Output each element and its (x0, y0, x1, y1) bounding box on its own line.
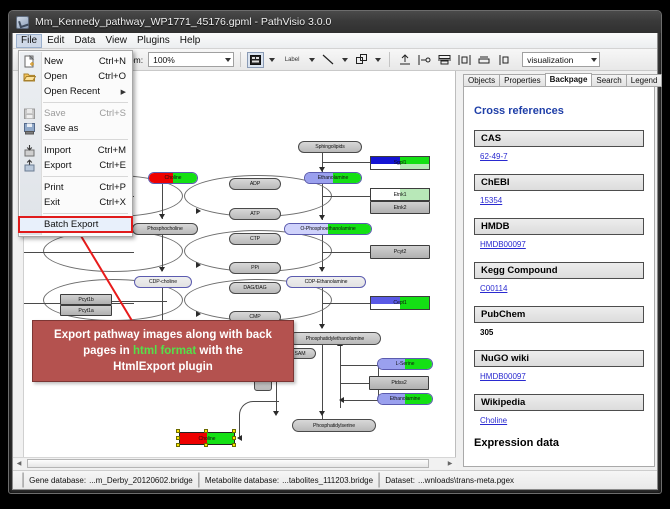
menu-separator-2 (43, 139, 128, 140)
pathvisio-app-icon (16, 16, 29, 29)
zoom-combo[interactable]: 100% (148, 52, 234, 67)
menu-item-export[interactable]: Export Ctrl+E (19, 158, 132, 173)
callout-line-2c: with the (196, 345, 243, 357)
annotation-callout: Export pathway images along with back pa… (32, 320, 294, 382)
same-width-icon[interactable] (476, 52, 493, 68)
align-top-icon[interactable] (396, 52, 413, 68)
menu-item-open[interactable]: Open Ctrl+O (19, 69, 132, 84)
xref-source-nugo-wiki: NuGO wiki (474, 350, 644, 367)
new-document-icon (23, 55, 36, 68)
label-tool[interactable]: Label (280, 52, 304, 68)
menu-bar: File Edit Data View Plugins Help (13, 33, 657, 49)
menu-data[interactable]: Data (69, 34, 100, 48)
line-dropdown-icon[interactable] (342, 58, 348, 62)
menu-item-batch-export-label: Batch Export (44, 219, 98, 230)
menu-item-export-accel: Ctrl+E (99, 160, 126, 171)
application-window: Mm_Kennedy_pathway_WP1771_45176.gpml - P… (8, 10, 662, 494)
menu-item-save-as-label: Save as (44, 123, 78, 134)
menu-item-save-accel: Ctrl+S (99, 108, 126, 119)
align-left-icon[interactable] (416, 52, 433, 68)
xref-source-hmdb: HMDB (474, 218, 644, 235)
menu-item-save[interactable]: Save Ctrl+S (19, 106, 132, 121)
side-panel: Objects Properties Backpage Search Legen… (457, 71, 657, 469)
menu-item-import-label: Import (44, 145, 71, 156)
callout-line-1: Export pathway images along with back (54, 327, 272, 343)
xref-source-pubchem: PubChem (474, 306, 644, 323)
menu-item-save-label: Save (44, 108, 66, 119)
menu-item-exit-label: Exit (44, 197, 60, 208)
toolbar-separator-2 (389, 52, 390, 67)
shape-tool-icon[interactable] (353, 52, 370, 68)
menu-separator-1 (43, 102, 128, 103)
visualization-value: visualization (527, 55, 573, 65)
xref-value-nugo-wiki[interactable]: HMDB00097 (480, 372, 644, 381)
menu-separator-3 (43, 176, 128, 177)
toolbar-separator (240, 52, 241, 67)
menu-item-batch-export[interactable]: Batch Export (19, 217, 132, 232)
xref-value-kegg-compound[interactable]: C00114 (480, 284, 644, 293)
menu-separator-4 (43, 213, 128, 214)
title-bar: Mm_Kennedy_pathway_WP1771_45176.gpml - P… (9, 11, 661, 33)
line-tool-icon[interactable] (320, 52, 337, 68)
menu-item-save-as[interactable]: Save as (19, 121, 132, 136)
xref-link-wikipedia[interactable]: Choline (480, 416, 507, 425)
menu-item-new-accel: Ctrl+N (99, 56, 126, 67)
backpage-content: Cross references CAS 62-49-7 ChEBI 15354… (474, 87, 644, 466)
export-icon (23, 159, 36, 172)
menu-item-open-recent-label: Open Recent (44, 86, 100, 97)
chevron-down-icon-2 (591, 58, 597, 62)
menu-item-import-accel: Ctrl+M (98, 145, 126, 156)
tab-backpage[interactable]: Backpage (545, 73, 593, 87)
client-area: File Edit Data View Plugins Help Zoom: 1… (12, 33, 658, 490)
menu-plugins[interactable]: Plugins (132, 34, 175, 48)
open-folder-icon (23, 70, 36, 83)
cross-references-heading: Cross references (474, 105, 644, 117)
menu-item-open-label: Open (44, 71, 67, 82)
panel-tabstrip: Objects Properties Backpage Search Legen… (463, 73, 655, 87)
menu-item-import[interactable]: Import Ctrl+M (19, 143, 132, 158)
save-as-icon (23, 122, 36, 135)
callout-line-2: pages in html format with the (83, 343, 243, 359)
status-divider-1: | (197, 471, 201, 489)
status-dataset-label: Dataset: (385, 476, 415, 485)
menu-item-open-recent[interactable]: Open Recent ▶ (19, 84, 132, 99)
datanode-dropdown-icon[interactable] (269, 58, 275, 62)
menu-item-exit-accel: Ctrl+X (99, 197, 126, 208)
visualization-combo[interactable]: visualization (522, 52, 600, 67)
xref-value-hmdb[interactable]: HMDB00097 (480, 240, 644, 249)
save-disk-icon (23, 107, 36, 120)
menu-item-exit[interactable]: Exit Ctrl+X (19, 195, 132, 210)
callout-line-2a: pages in (83, 345, 133, 357)
label-dropdown-icon[interactable] (309, 58, 315, 62)
status-metabolite-db-value: ...tabolites_111203.bridge (282, 476, 373, 485)
menu-view[interactable]: View (100, 34, 132, 48)
menu-item-open-accel: Ctrl+O (98, 71, 126, 82)
import-icon (23, 144, 36, 157)
menu-edit[interactable]: Edit (42, 34, 69, 48)
callout-line-3: HtmlExport plugin (113, 359, 213, 375)
menu-item-export-label: Export (44, 160, 71, 171)
datanode-tool-icon[interactable] (247, 52, 264, 68)
expression-data-heading: Expression data (474, 437, 644, 449)
status-bar: | Gene database: ...m_Derby_20120602.bri… (13, 470, 657, 489)
chevron-down-icon (225, 58, 231, 62)
xref-link-kegg-compound[interactable]: C00114 (480, 284, 507, 293)
xref-value-cas[interactable]: 62-49-7 (480, 152, 644, 161)
screenshot-root: Mm_Kennedy_pathway_WP1771_45176.gpml - P… (0, 0, 670, 509)
xref-link-cas[interactable]: 62-49-7 (480, 152, 508, 161)
xref-value-chebi[interactable]: 15354 (480, 196, 644, 205)
xref-link-hmdb[interactable]: HMDB00097 (480, 240, 526, 249)
submenu-arrow-icon: ▶ (121, 88, 126, 96)
same-height-icon[interactable] (496, 52, 513, 68)
status-divider-0: | (21, 471, 25, 489)
backpage-panel[interactable]: Cross references CAS 62-49-7 ChEBI 15354… (463, 86, 655, 467)
menu-file[interactable]: File (16, 34, 42, 48)
xref-source-wikipedia: Wikipedia (474, 394, 644, 411)
align-middle-icon[interactable] (436, 52, 453, 68)
status-gene-db-label: Gene database: (29, 476, 86, 485)
xref-value-wikipedia[interactable]: Choline (480, 416, 644, 425)
shape-dropdown-icon[interactable] (375, 58, 381, 62)
callout-html-format-highlight: html format (133, 345, 196, 357)
status-dataset-value: ...wnloads\trans-meta.pgex (418, 476, 514, 485)
status-divider-2: | (377, 471, 381, 489)
menu-item-new[interactable]: New Ctrl+N (19, 54, 132, 69)
menu-item-print-accel: Ctrl+P (99, 182, 126, 193)
distribute-horizontal-icon[interactable] (456, 52, 473, 68)
menu-item-new-label: New (44, 56, 63, 67)
menu-item-print[interactable]: Print Ctrl+P (19, 180, 132, 195)
xref-source-kegg-compound: Kegg Compound (474, 262, 644, 279)
xref-link-nugo-wiki[interactable]: HMDB00097 (480, 372, 526, 381)
file-menu-dropdown[interactable]: New Ctrl+N Open Ctrl+O Open Recent ▶ (18, 50, 133, 237)
status-metabolite-db-label: Metabolite database: (205, 476, 279, 485)
xref-link-chebi[interactable]: 15354 (480, 196, 502, 205)
menu-help[interactable]: Help (175, 34, 206, 48)
menu-item-print-label: Print (44, 182, 64, 193)
status-gene-db-value: ...m_Derby_20120602.bridge (89, 476, 193, 485)
xref-value-pubchem: 305 (480, 328, 644, 337)
window-title: Mm_Kennedy_pathway_WP1771_45176.gpml - P… (35, 16, 331, 28)
xref-source-cas: CAS (474, 130, 644, 147)
zoom-value: 100% (153, 55, 175, 65)
xref-source-chebi: ChEBI (474, 174, 644, 191)
